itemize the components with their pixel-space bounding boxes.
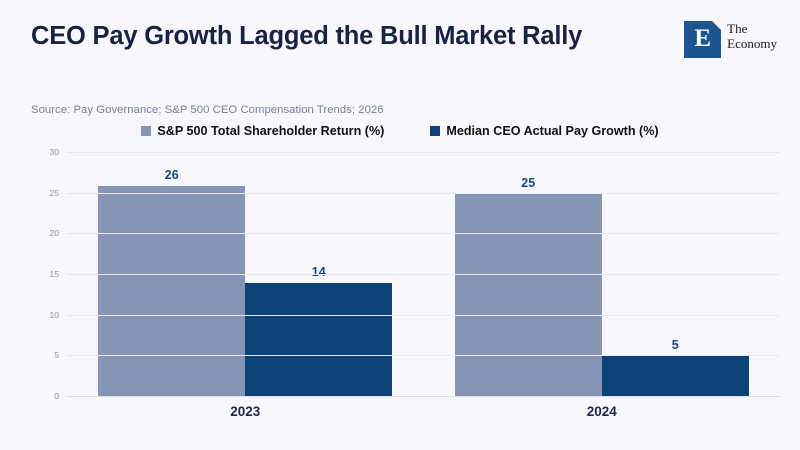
gridline: 5: [67, 355, 780, 356]
legend-label: Median CEO Actual Pay Growth (%): [446, 124, 658, 138]
brand-name-line2: Economy: [727, 37, 777, 52]
chart-legend: S&P 500 Total Shareholder Return (%)Medi…: [0, 124, 800, 138]
y-axis-tick-label: 25: [50, 188, 59, 198]
gridline: 20: [67, 233, 780, 234]
bar-group-container: 2614255: [67, 153, 780, 397]
legend-item[interactable]: Median CEO Actual Pay Growth (%): [430, 124, 658, 138]
brand-name: The Economy: [727, 21, 777, 51]
source-note: Source: Pay Governance; S&P 500 CEO Comp…: [31, 104, 384, 116]
category-label: 2024: [587, 404, 617, 419]
bar[interactable]: 5: [602, 356, 749, 397]
page-title: CEO Pay Growth Lagged the Bull Market Ra…: [31, 20, 631, 54]
y-axis-tick-label: 30: [50, 147, 59, 157]
category-label: 2023: [230, 404, 260, 419]
bar[interactable]: 25: [455, 194, 602, 397]
bar-value-label: 26: [165, 168, 179, 182]
chart-plot: 2614255 051015202530 20232024: [0, 148, 800, 450]
folded-corner-icon: [712, 21, 721, 30]
y-axis-tick-label: 15: [50, 269, 59, 279]
bar-value-label: 25: [521, 176, 535, 190]
legend-item[interactable]: S&P 500 Total Shareholder Return (%): [141, 124, 384, 138]
bar[interactable]: 26: [98, 186, 245, 397]
gridline: 15: [67, 274, 780, 275]
y-axis-tick-label: 20: [50, 228, 59, 238]
gridline: 30: [67, 152, 780, 153]
plot-axis-area: 2614255 051015202530: [67, 153, 780, 397]
legend-label: S&P 500 Total Shareholder Return (%): [157, 124, 384, 138]
gridline: 25: [67, 193, 780, 194]
chart-page: CEO Pay Growth Lagged the Bull Market Ra…: [0, 0, 800, 450]
y-axis-tick-label: 0: [54, 391, 59, 401]
brand-mark-icon: E: [684, 21, 721, 58]
legend-swatch-icon: [141, 126, 151, 136]
y-axis-tick-label: 10: [50, 310, 59, 320]
brand-logo: E The Economy: [684, 21, 777, 58]
gridline: 0: [67, 396, 780, 397]
chart-header: CEO Pay Growth Lagged the Bull Market Ra…: [0, 0, 800, 100]
gridline: 10: [67, 315, 780, 316]
y-axis-tick-label: 5: [54, 350, 59, 360]
brand-name-line1: The: [727, 22, 777, 37]
legend-swatch-icon: [430, 126, 440, 136]
category-axis: 20232024: [67, 404, 780, 434]
bar-value-label: 5: [672, 338, 679, 352]
bar-value-label: 14: [312, 265, 326, 279]
bar[interactable]: 14: [245, 283, 392, 397]
